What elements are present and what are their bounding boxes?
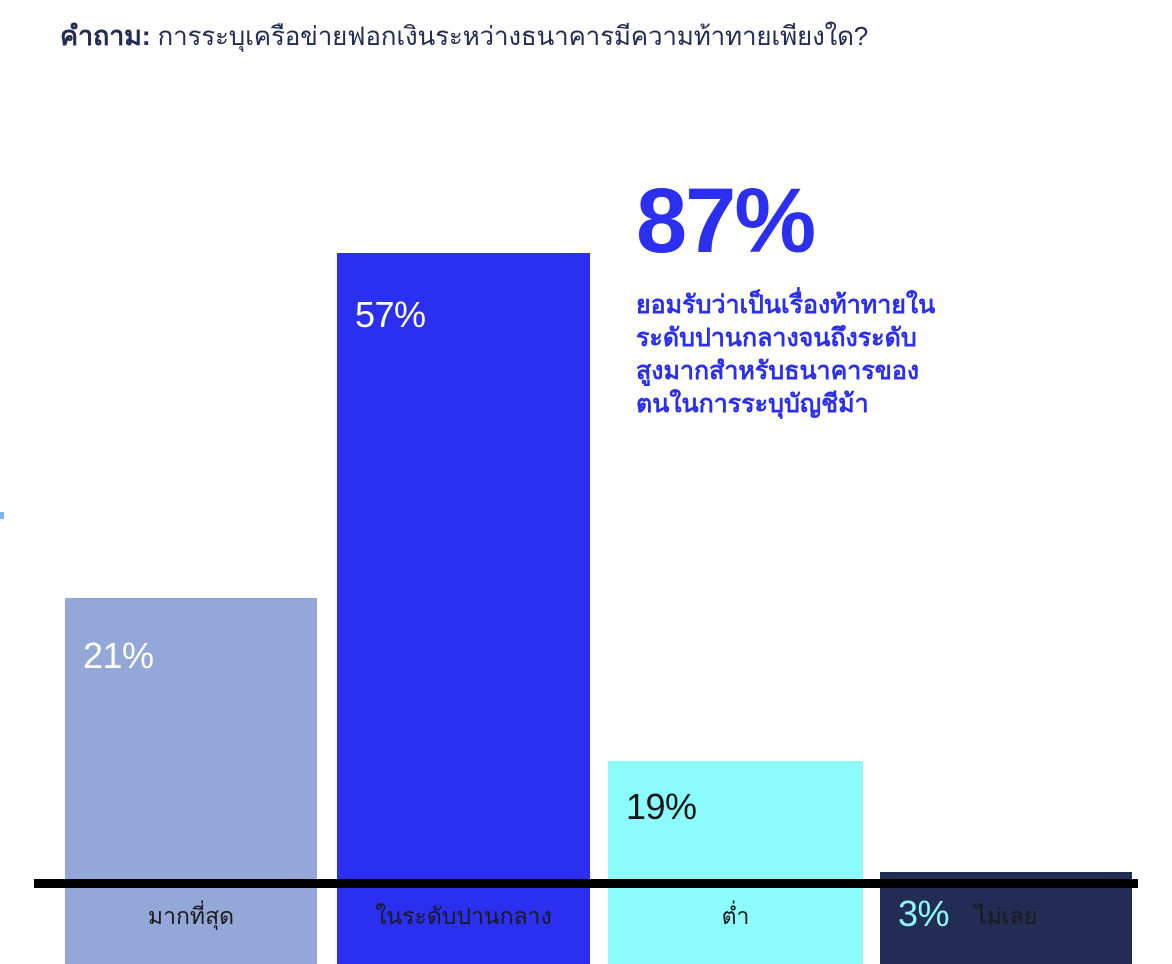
bar-value-label: 21% bbox=[83, 638, 154, 674]
x-axis-label-moderate: ในระดับปานกลาง bbox=[337, 899, 590, 935]
callout-line-4: ตนในการระบุบัญชีม้า bbox=[636, 388, 1066, 421]
bar-chart: 21% 57% 19% 3% มากที่สุด ในระดับปานกลาง … bbox=[0, 0, 1172, 964]
bar-value-label: 19% bbox=[626, 789, 697, 825]
callout-line-3: สูงมากสำหรับธนาคารของ bbox=[636, 355, 1066, 388]
x-axis-label-none: ไม่เลย bbox=[880, 899, 1132, 935]
callout-line-1: ยอมรับว่าเป็นเรื่องท้าทายใน bbox=[636, 289, 1066, 322]
callout-figure: 87% bbox=[636, 178, 1066, 265]
callout-line-2: ระดับปานกลางจนถึงระดับ bbox=[636, 322, 1066, 355]
bar-value-label: 57% bbox=[355, 297, 426, 333]
x-axis-baseline bbox=[34, 879, 1138, 888]
callout-body: ยอมรับว่าเป็นเรื่องท้าทายใน ระดับปานกลาง… bbox=[636, 289, 1066, 421]
x-axis-label-low: ต่ำ bbox=[608, 899, 863, 935]
x-axis-label-highest: มากที่สุด bbox=[65, 899, 317, 935]
callout-annotation: 87% ยอมรับว่าเป็นเรื่องท้าทายใน ระดับปาน… bbox=[636, 178, 1066, 421]
bar-moderate: 57% bbox=[337, 253, 590, 964]
